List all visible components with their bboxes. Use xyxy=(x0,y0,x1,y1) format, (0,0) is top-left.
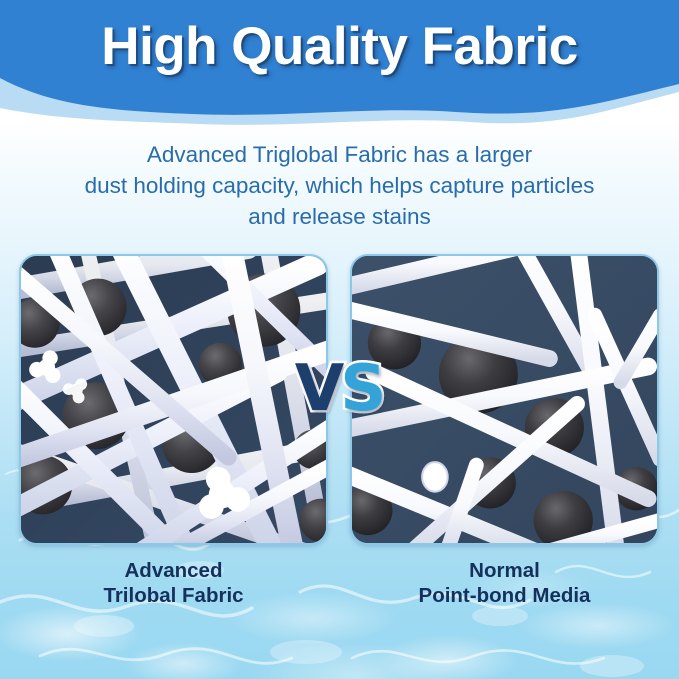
round-cross-section-icon xyxy=(422,462,448,492)
vs-letter-v: V xyxy=(295,357,343,421)
subtitle-line-3: and release stains xyxy=(36,201,643,232)
panel-captions: Advanced Trilobal Fabric Normal Point-bo… xyxy=(0,558,679,620)
caption-left-line-1: Advanced xyxy=(19,558,328,583)
caption-left-line-2: Trilobal Fabric xyxy=(19,583,328,608)
caption-right-line-1: Normal xyxy=(350,558,659,583)
vs-letter-s: S xyxy=(340,357,384,421)
infographic-poster: High Quality Fabric Advanced Triglobal F… xyxy=(0,0,679,679)
subtitle-line-1: Advanced Triglobal Fabric has a larger xyxy=(36,139,643,170)
vs-badge: VS xyxy=(0,357,679,421)
caption-advanced-trilobal: Advanced Trilobal Fabric xyxy=(19,558,328,608)
page-title: High Quality Fabric xyxy=(0,16,679,77)
subtitle-line-2: dust holding capacity, which helps captu… xyxy=(36,170,643,201)
caption-normal-point-bond: Normal Point-bond Media xyxy=(350,558,659,608)
caption-right-line-2: Point-bond Media xyxy=(350,583,659,608)
subtitle-text: Advanced Triglobal Fabric has a larger d… xyxy=(36,139,643,232)
